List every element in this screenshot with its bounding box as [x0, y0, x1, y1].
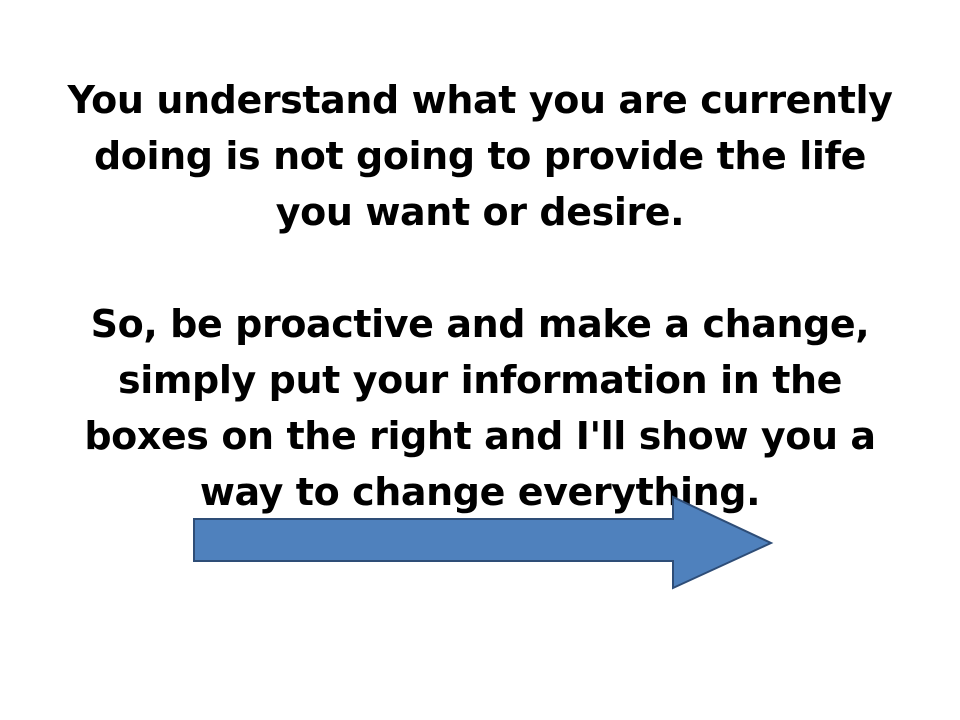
paragraph-secondary: So, be proactive and make a change, simp… [60, 296, 900, 520]
slide-canvas: You understand what you are currently do… [0, 0, 960, 720]
paragraph-primary: You understand what you are currently do… [60, 72, 900, 240]
